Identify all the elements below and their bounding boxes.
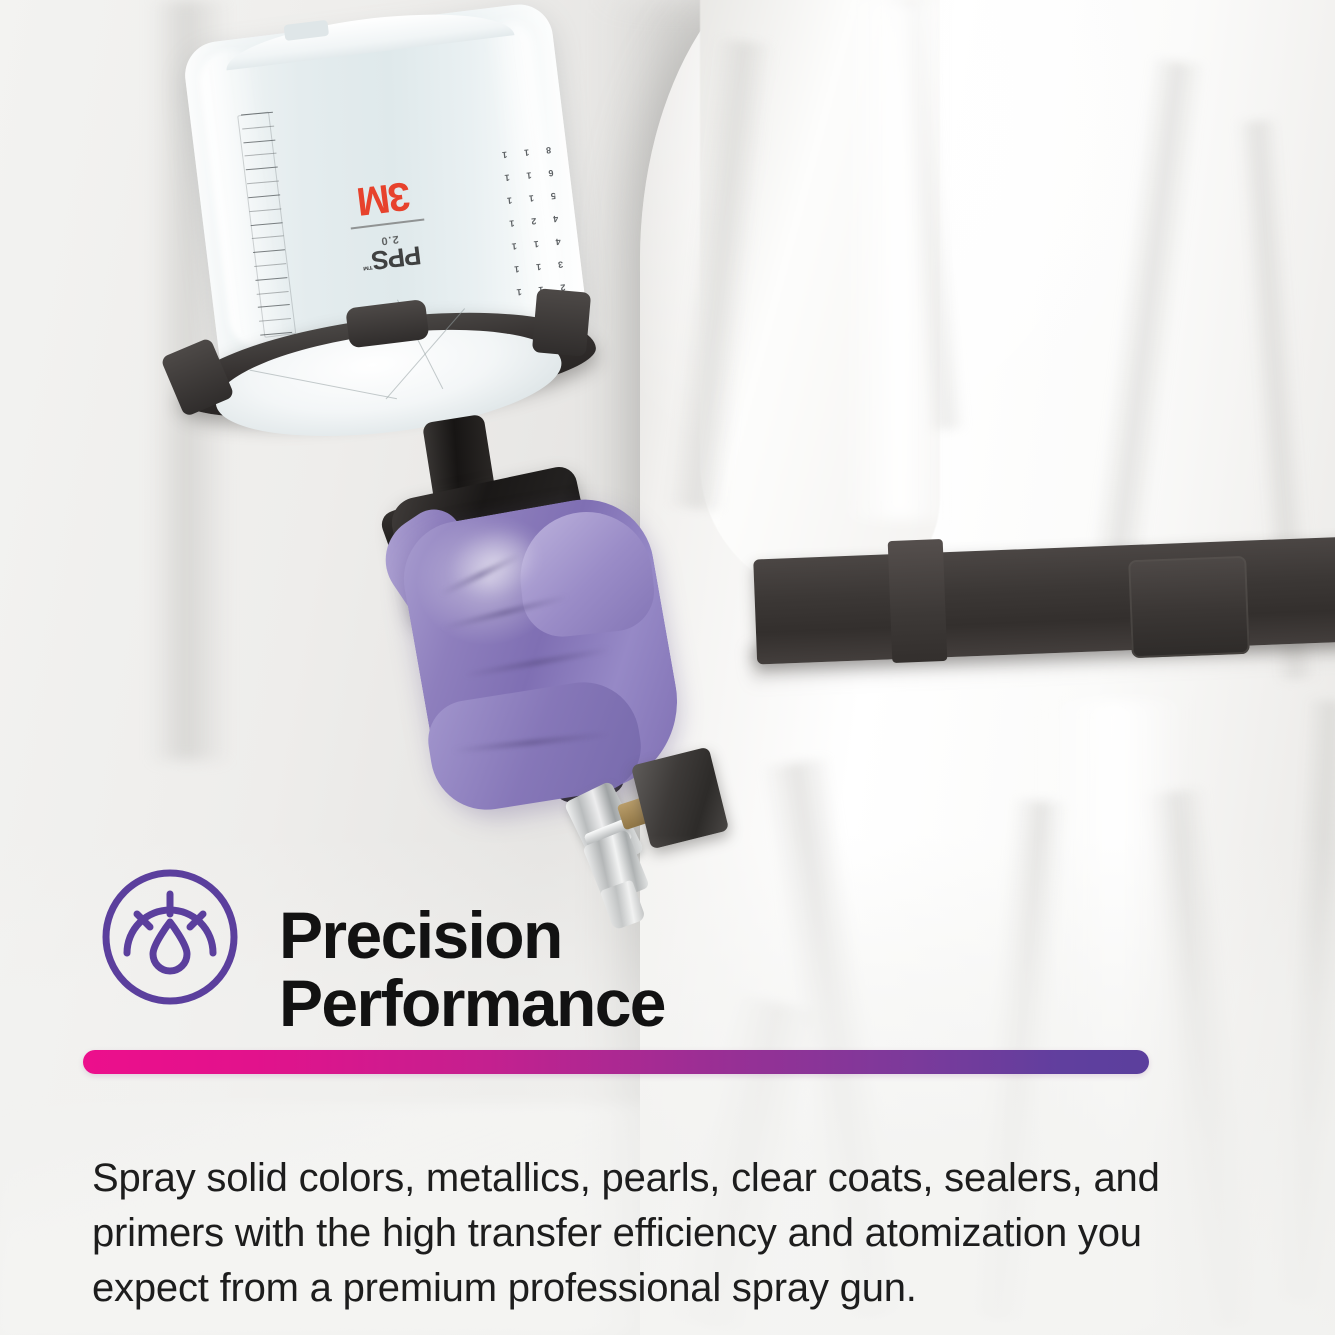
gradient-divider — [83, 1050, 1149, 1074]
feature-description: Spray solid colors, metallics, pearls, c… — [92, 1151, 1202, 1315]
headline-line-1: Precision — [279, 898, 562, 972]
precision-gauge-droplet-icon — [95, 862, 245, 1012]
callout-block: Precision Performance Spray solid colors… — [0, 0, 1335, 1335]
page-title: Precision Performance — [279, 902, 919, 1038]
feature-callout-screenshot: 211 311 411 421 511 611 811 PPS™2.0 3M — [0, 0, 1335, 1335]
headline-line-2: Performance — [279, 970, 919, 1038]
